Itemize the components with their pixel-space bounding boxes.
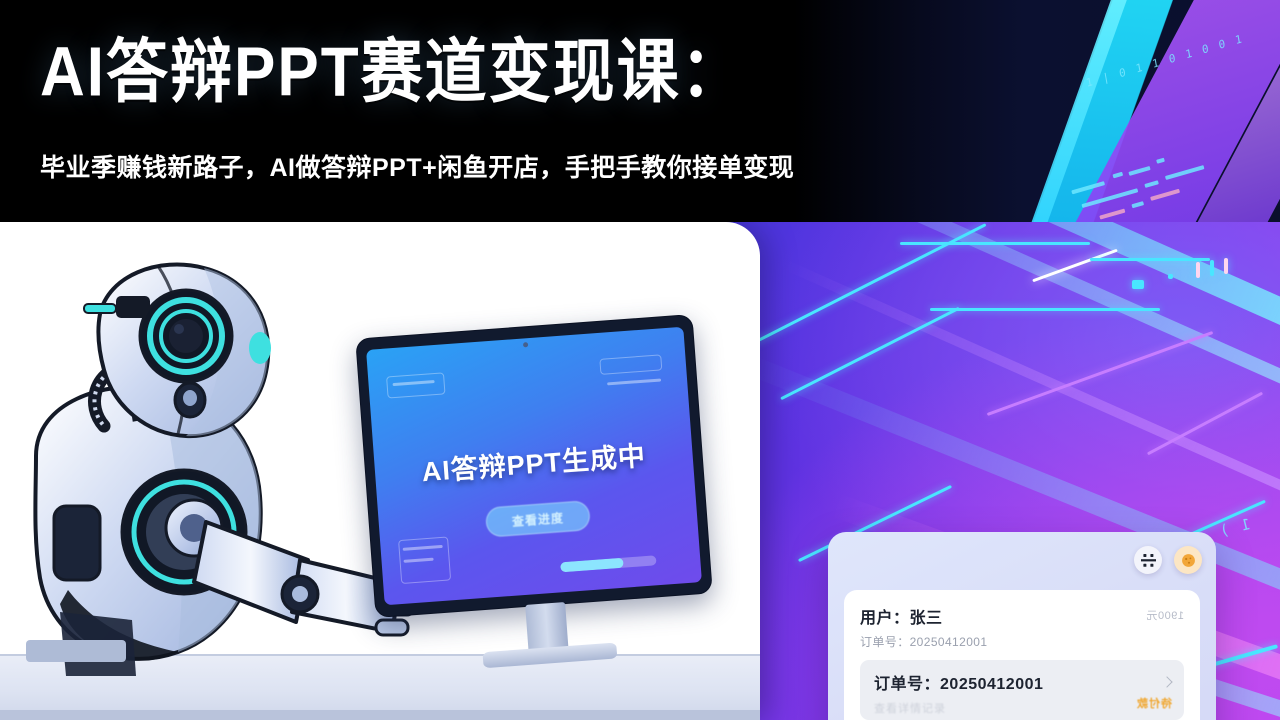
highlight-order-line: 订单号：20250412001 [874, 670, 1170, 694]
order-row-highlighted[interactable]: 订单号：20250412001 查看详情记录 待付款 [860, 660, 1184, 720]
title-wrapper: AI答辩PPT赛道变现课： [40, 36, 745, 102]
order-row-ghost-text: 查看详情记录 [874, 700, 1170, 716]
price-tag: 1900元 [1146, 607, 1184, 623]
illustration-panel: AI答辩PPT生成中 查看进度 [0, 222, 760, 720]
monitor-screen: AI答辩PPT生成中 查看进度 [366, 327, 702, 606]
circuit-trace [900, 242, 1090, 245]
screen-action-button[interactable]: 查看进度 [485, 500, 591, 538]
user-label: 用户： [860, 610, 910, 627]
circuit-trace [930, 308, 1160, 311]
monitor-stand [525, 602, 568, 653]
screen-ui-box [599, 354, 662, 374]
data-node [1132, 280, 1144, 289]
main-stage: 1 ) - ı ı ( - [0, 222, 1280, 720]
webcam-dot [522, 342, 527, 347]
circuit-trace [1090, 258, 1210, 261]
header-band: 1 | 0 1 1 0 1 0 0 1 1 0 0 1 1 ) ( 4 9 > … [0, 0, 1280, 222]
order-number-value: 20250412001 [910, 635, 988, 649]
poster-root: 1 | 0 1 1 0 1 0 0 1 1 0 0 1 1 ) ( 4 9 > … [0, 0, 1280, 720]
user-line: 用户：张三 [860, 604, 1184, 628]
monitor: AI答辩PPT生成中 查看进度 [355, 314, 713, 618]
order-card[interactable]: 用户：张三 订单号：20250412001 1900元 订单号：20250412… [828, 532, 1216, 720]
user-value: 张三 [910, 610, 943, 627]
data-node [1196, 262, 1200, 278]
status-badge: 待付款 [1136, 695, 1172, 711]
desk-edge [0, 710, 760, 720]
highlight-order-label: 订单号： [874, 676, 940, 693]
data-node [1168, 274, 1173, 279]
page-subtitle: 毕业季赚钱新路子，AI做答辩PPT+闲鱼开店，手把手教你接单变现 [40, 148, 794, 184]
screen-ui-line [607, 378, 661, 385]
screen-progress-bar [560, 555, 656, 572]
data-node [1210, 260, 1214, 276]
order-card-body: 用户：张三 订单号：20250412001 1900元 订单号：20250412… [844, 590, 1200, 720]
data-node [1224, 258, 1228, 274]
cookie-icon[interactable] [1174, 546, 1202, 574]
order-card-toolbar [828, 532, 1216, 586]
order-number-line: 订单号：20250412001 [860, 633, 1184, 650]
highlight-order-value: 20250412001 [940, 676, 1043, 693]
chart-icon[interactable] [1134, 546, 1162, 574]
screen-headline: AI答辩PPT生成中 [374, 430, 694, 492]
order-row-user: 用户：张三 订单号：20250412001 1900元 [860, 604, 1184, 656]
page-title: AI答辩PPT赛道变现课： [40, 36, 745, 110]
order-number-label: 订单号： [860, 635, 910, 649]
